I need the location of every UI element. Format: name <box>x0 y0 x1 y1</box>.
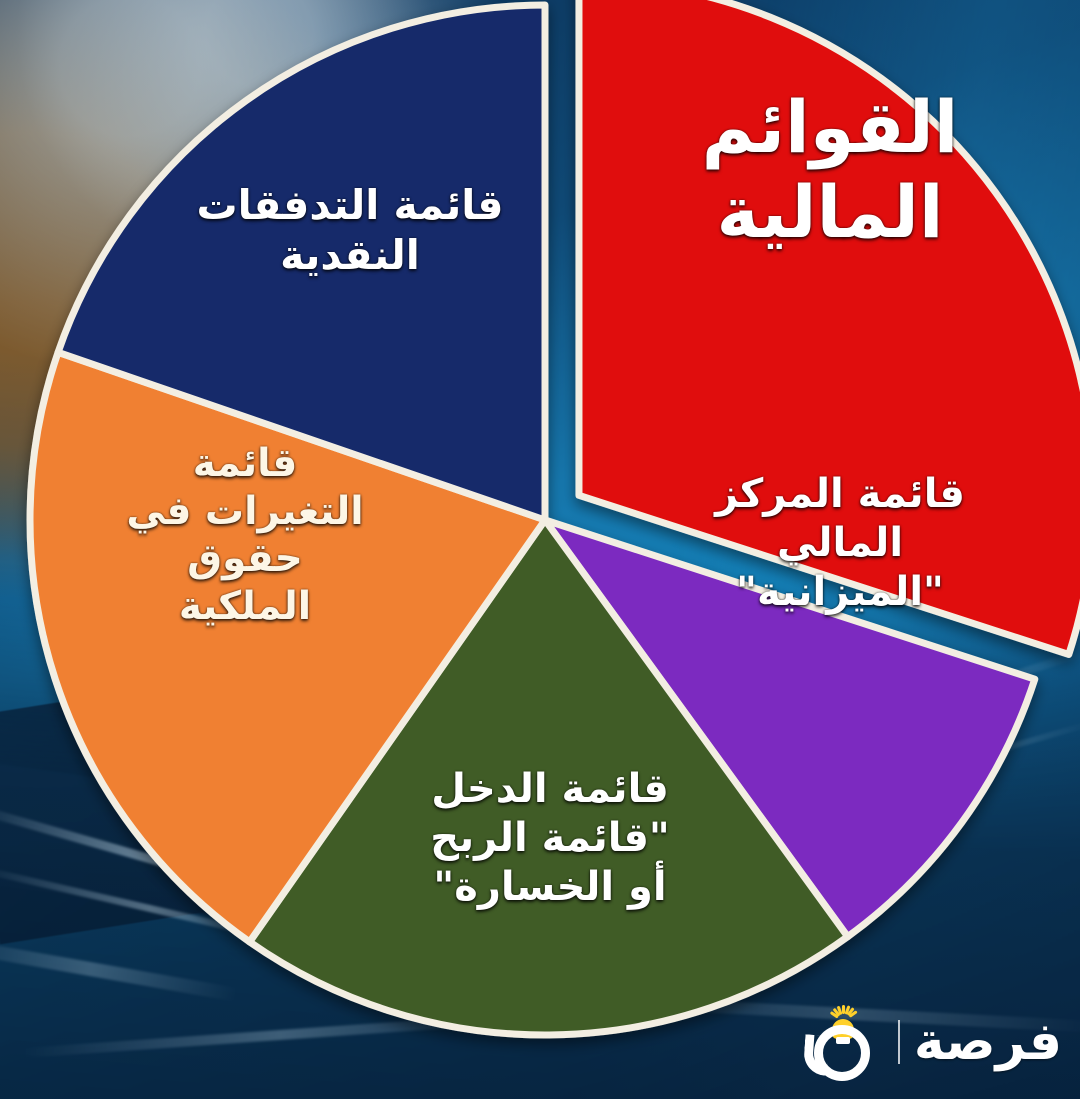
watermark-divider <box>898 1020 900 1064</box>
infographic-canvas: قائمة التدفقات النقدية القوائم المالية ق… <box>0 0 1080 1099</box>
watermark-brand-text: فرصة <box>914 1012 1062 1072</box>
pie-chart <box>0 0 1080 1099</box>
forsa-logo-icon <box>806 999 884 1085</box>
watermark: فرصة <box>806 999 1062 1085</box>
letter-noon-tail-icon <box>802 1034 829 1076</box>
